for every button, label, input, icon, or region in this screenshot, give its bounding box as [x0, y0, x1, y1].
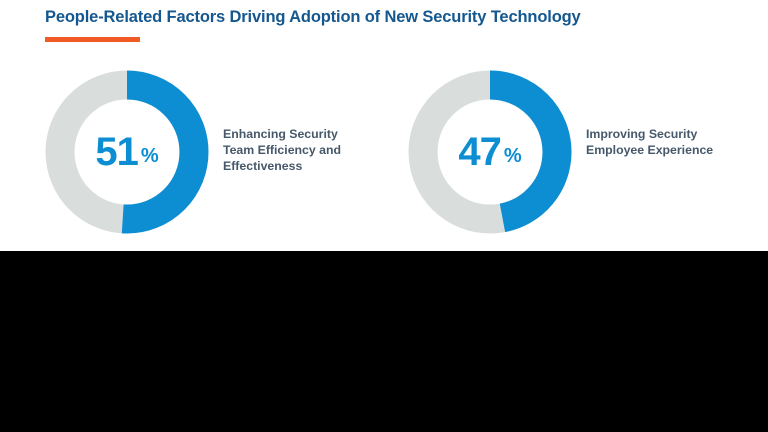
donut-chart-2: 47 % [408, 70, 572, 234]
footer-black-band [0, 251, 768, 432]
page-title: People-Related Factors Driving Adoption … [45, 8, 745, 27]
donut-chart-1: 51 % [45, 70, 209, 234]
donut-svg-1 [45, 70, 209, 234]
slide-canvas: People-Related Factors Driving Adoption … [0, 0, 768, 432]
stat-label-1-line-1: Enhancing Security [223, 126, 413, 142]
donut-svg-2 [408, 70, 572, 234]
stat-label-2: Improving Security Employee Experience [586, 126, 768, 158]
stat-label-1-line-3: Effectiveness [223, 158, 413, 174]
stat-label-2-line-1: Improving Security [586, 126, 768, 142]
stat-label-2-line-2: Employee Experience [586, 142, 768, 158]
stat-label-1-line-2: Team Efficiency and [223, 142, 413, 158]
title-accent-rule [45, 37, 140, 42]
stat-label-1: Enhancing Security Team Efficiency and E… [223, 126, 413, 175]
